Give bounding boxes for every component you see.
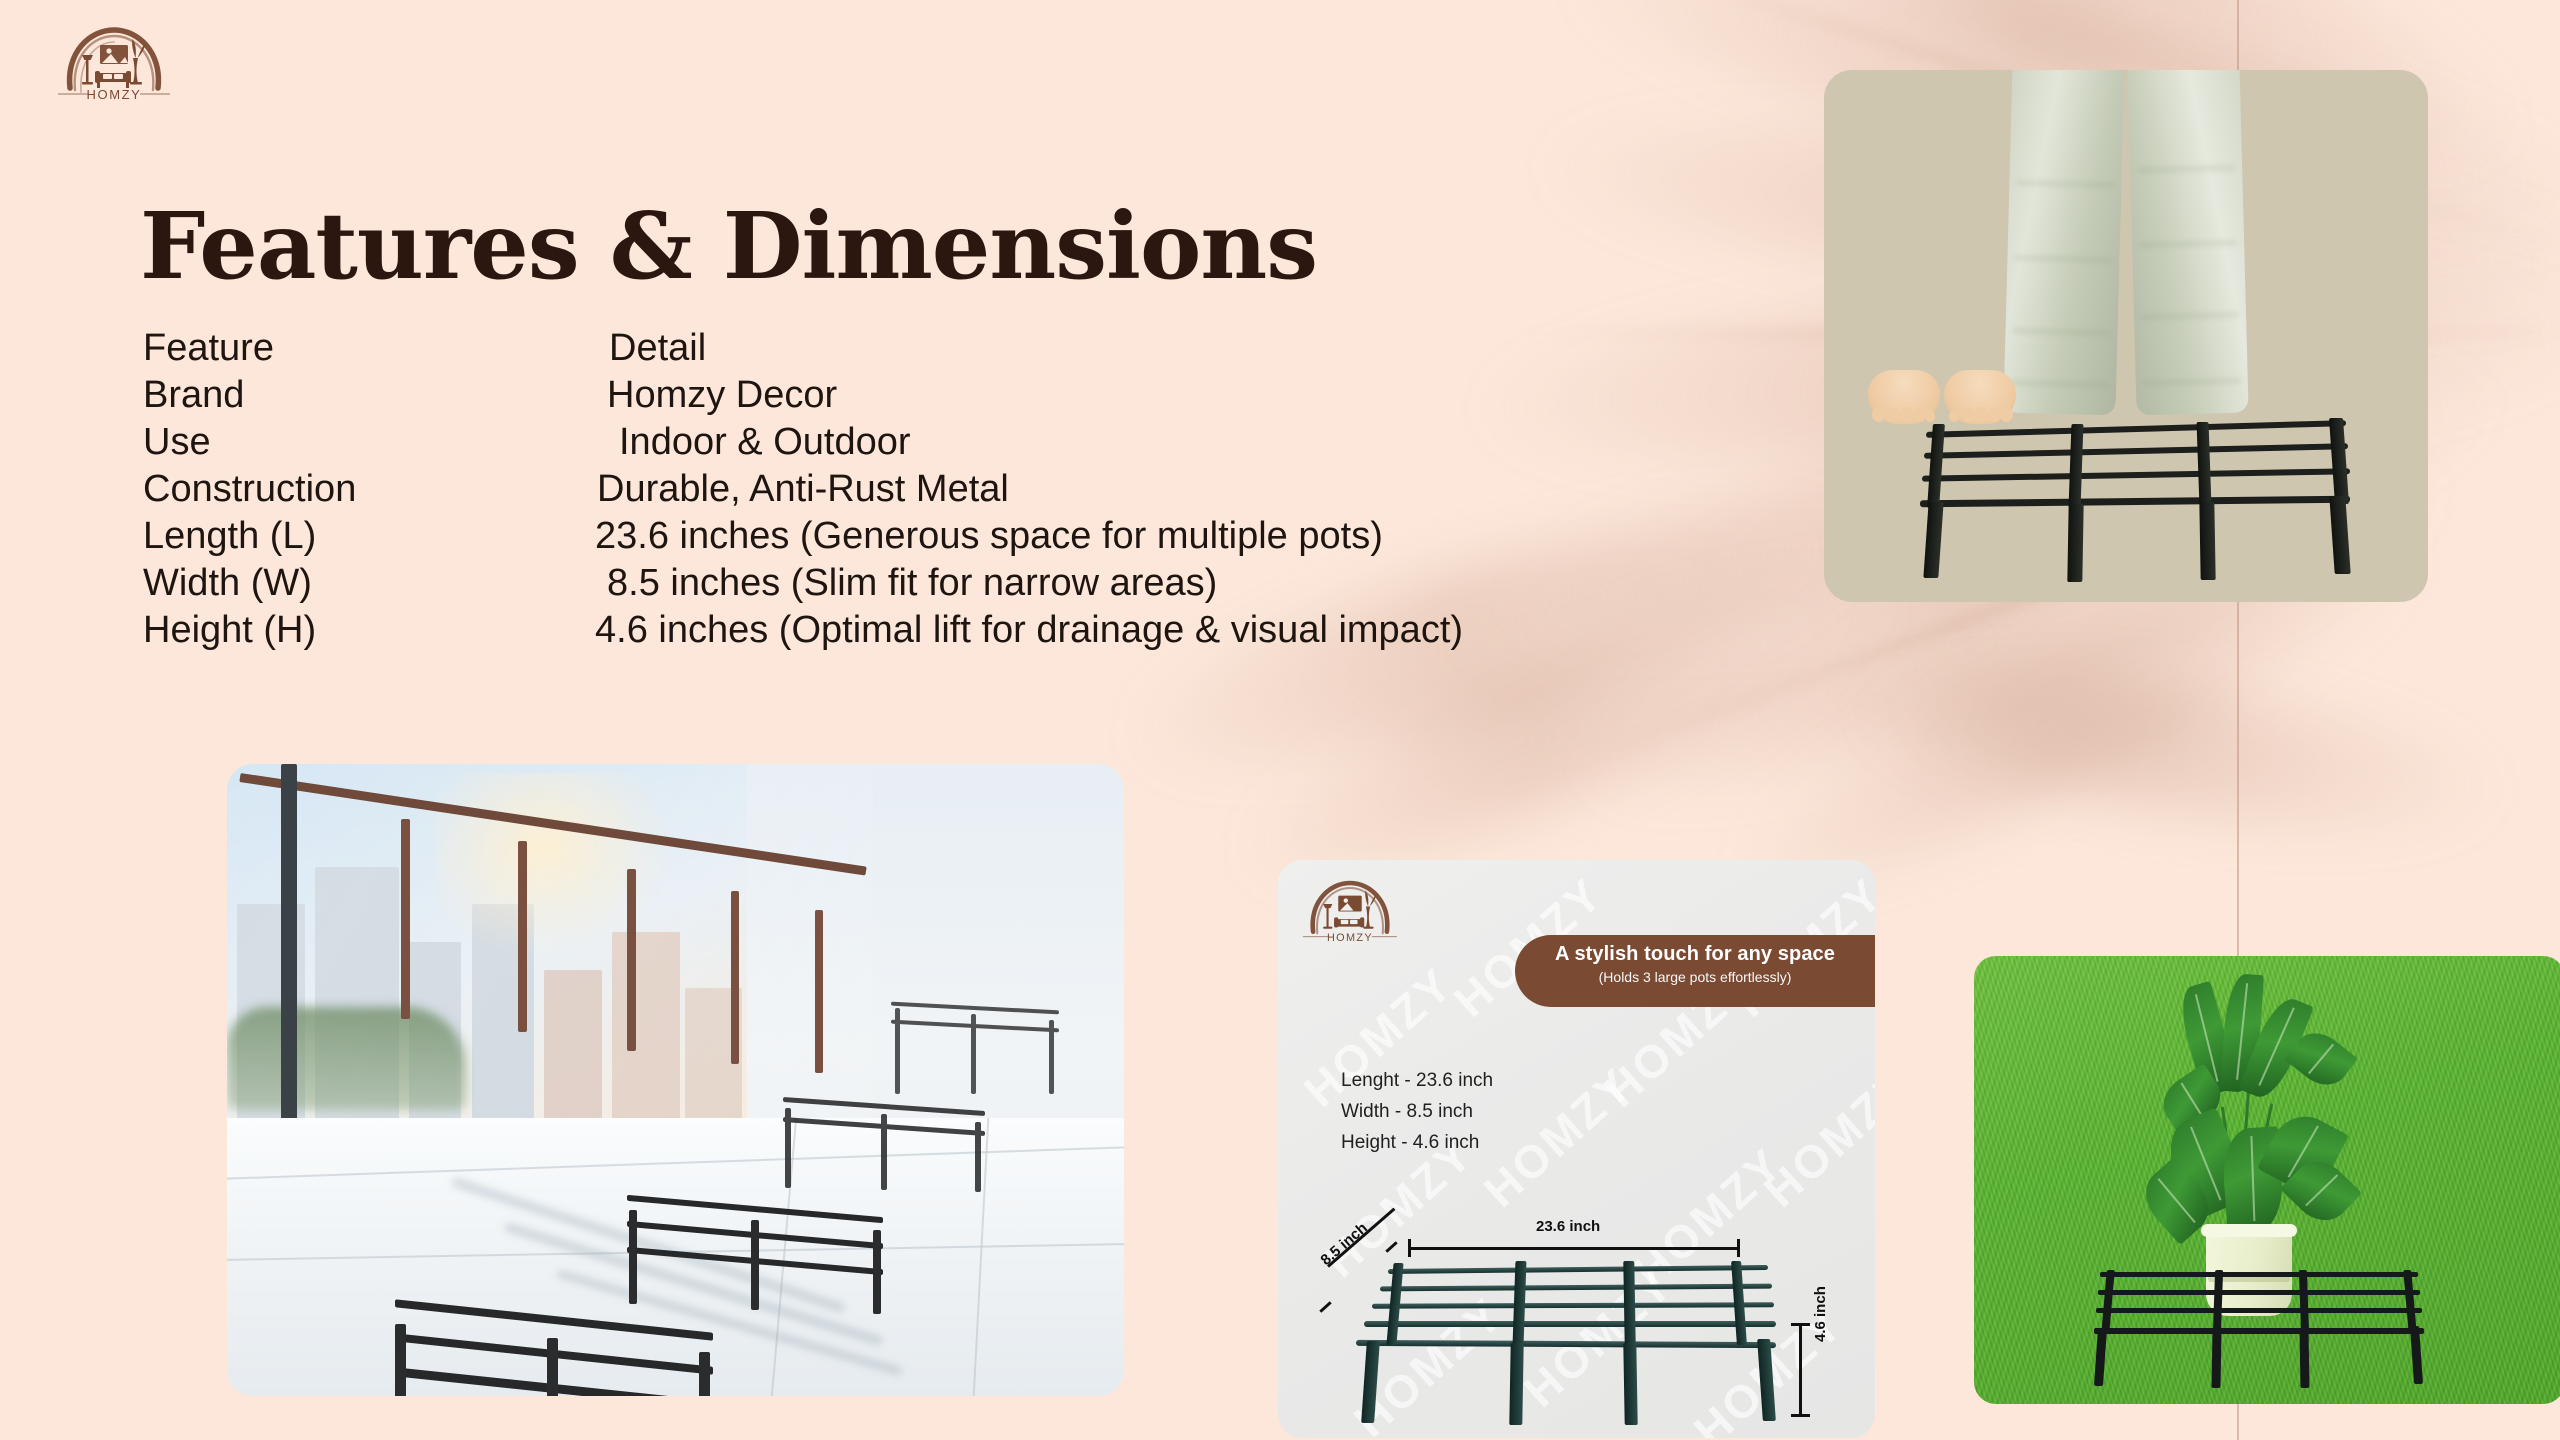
person-legs [2008, 70, 2244, 418]
dimension-label-height: 4.6 inch [1812, 1286, 1829, 1342]
bare-foot-left [1868, 370, 1940, 424]
feet-on-stand-illustration [1824, 70, 2428, 602]
metal-stand-diagram [1342, 1255, 1792, 1430]
table-row: Construction Durable, Anti-Rust Metal [143, 466, 1463, 513]
table-cell-detail: Indoor & Outdoor [595, 419, 911, 466]
metal-stand-illustration [1920, 422, 2350, 584]
badge-title: A stylish touch for any space [1515, 943, 1875, 966]
list-item: Width - 8.5 inch [1341, 1096, 1493, 1127]
homzy-logo: HOMZY [52, 18, 176, 104]
palm-frond-shadow [1855, 646, 2505, 854]
table-cell-feature: Height (H) [143, 607, 595, 654]
photo-plant-on-grass [1974, 956, 2560, 1404]
table-cell-feature: Brand [143, 372, 595, 419]
homzy-wordmark: HOMZY [1327, 932, 1373, 944]
table-cell-feature: Length (L) [143, 513, 595, 560]
table-cell-feature: Construction [143, 466, 595, 513]
metal-stand-far [891, 1006, 1063, 1104]
metal-stand-3 [783, 1104, 989, 1210]
photo-feet-on-stand [1824, 70, 2428, 602]
table-row: Use Indoor & Outdoor [143, 419, 1463, 466]
homzy-wordmark: HOMZY [87, 87, 142, 102]
list-item: Lenght - 23.6 inch [1341, 1065, 1493, 1096]
photo-balcony-stands [227, 764, 1124, 1396]
trouser-leg-right [2127, 70, 2248, 415]
table-cell-detail: Durable, Anti-Rust Metal [595, 466, 1009, 513]
table-cell-feature: Use [143, 419, 595, 466]
trouser-leg-left [2003, 70, 2124, 415]
table-cell-detail: Homzy Decor [595, 372, 837, 419]
metal-stand-illustration [2094, 1272, 2424, 1390]
page-title: Features & Dimensions [140, 200, 1317, 292]
dimension-label-length: 23.6 inch [1536, 1218, 1600, 1235]
table-cell-detail: Detail [595, 325, 706, 372]
metal-stand-2 [627, 1206, 889, 1330]
dimensions-infographic-card: HOMZY HOMZY HOMZY HOMZY HOMZY HOMZY HOMZ… [1278, 860, 1875, 1438]
table-row: Length (L) 23.6 inches (Generous space f… [143, 513, 1463, 560]
table-cell-detail: 4.6 inches (Optimal lift for drainage & … [595, 607, 1463, 654]
table-cell-feature: Feature [143, 325, 595, 372]
table-cell-detail: 8.5 inches (Slim fit for narrow areas) [595, 560, 1217, 607]
table-row: Feature Detail [143, 325, 1463, 372]
list-item: Height - 4.6 inch [1341, 1127, 1493, 1158]
spec-table: Feature Detail Brand Homzy Decor Use Ind… [143, 325, 1463, 654]
table-cell-detail: 23.6 inches (Generous space for multiple… [595, 513, 1383, 560]
watermark: HOMZY [1473, 1056, 1644, 1217]
table-row: Width (W) 8.5 inches (Slim fit for narro… [143, 560, 1463, 607]
homzy-logo: HOMZY [1298, 872, 1402, 946]
slide-canvas: HOMZY Features & Dimensions Feature Deta… [0, 0, 2560, 1440]
status-badge: A stylish touch for any space (Holds 3 l… [1515, 935, 1875, 1007]
dimension-list: Lenght - 23.6 inch Width - 8.5 inch Heig… [1341, 1065, 1493, 1158]
table-row: Height (H) 4.6 inches (Optimal lift for … [143, 607, 1463, 654]
table-cell-feature: Width (W) [143, 560, 595, 607]
badge-subtitle: (Holds 3 large pots effortlessly) [1515, 969, 1875, 985]
watermark: HOMZY [1753, 1056, 1875, 1217]
metal-stand-front [395, 1316, 721, 1396]
bare-foot-right [1944, 370, 2016, 424]
table-row: Brand Homzy Decor [143, 372, 1463, 419]
